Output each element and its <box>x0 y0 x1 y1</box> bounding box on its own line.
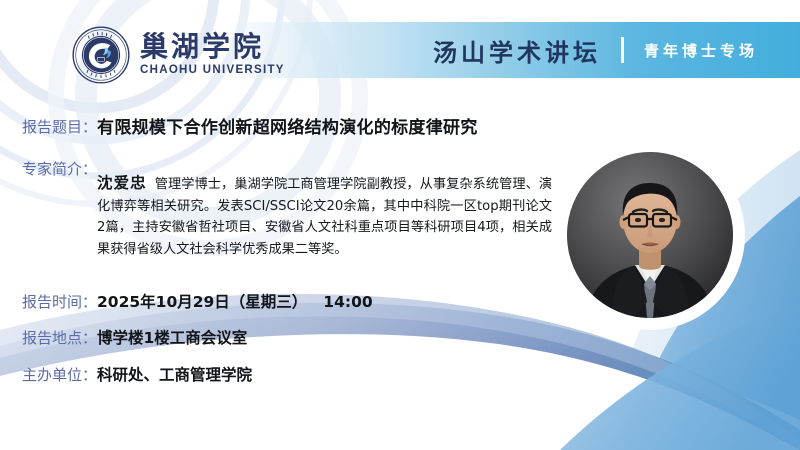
speaker-name: 沈爱忠 <box>97 174 147 192</box>
time-clock: 14:00 <box>323 291 372 314</box>
field-time-row: 报告时间： 2025年10月29日（星期三） 14:00 <box>0 291 800 314</box>
banner-subtitle: 青年博士专场 <box>644 40 758 61</box>
speaker-bio-block: 沈爱忠管理学博士，巢湖学院工商管理学院副教授，从事复杂系统管理、演化博弈等相关研… <box>97 158 552 274</box>
time-date: 2025年10月29日（星期三） <box>97 291 307 314</box>
university-seal-icon <box>72 26 130 84</box>
seminar-poster: 汤山学术讲坛 青年博士专场 <box>0 0 800 450</box>
title-value: 有限规模下合作创新超网络结构演化的标度律研究 <box>97 116 478 142</box>
university-name-en: CHAOHU UNIVERSITY <box>140 65 285 77</box>
organizer-label: 主办单位： <box>22 364 97 387</box>
field-title-row: 报告题目： 有限规模下合作创新超网络结构演化的标度律研究 <box>0 116 800 142</box>
poster-content: 报告题目： 有限规模下合作创新超网络结构演化的标度律研究 专家简介： 沈爱忠管理… <box>0 116 800 400</box>
university-logo: 巢湖学院 CHAOHU UNIVERSITY <box>72 26 285 84</box>
speaker-bio-paragraph: 沈爱忠管理学博士，巢湖学院工商管理学院副教授，从事复杂系统管理、演化博弈等相关研… <box>97 171 552 260</box>
field-speaker-row: 专家简介： 沈爱忠管理学博士，巢湖学院工商管理学院副教授，从事复杂系统管理、演化… <box>0 158 800 274</box>
time-label: 报告时间： <box>22 291 97 314</box>
speaker-label: 专家简介： <box>22 158 97 181</box>
field-organizer-row: 主办单位： 科研处、工商管理学院 <box>0 364 800 387</box>
speaker-bio-text: 管理学博士，巢湖学院工商管理学院副教授，从事复杂系统管理、演化博弈等相关研究。发… <box>97 177 552 257</box>
banner-divider <box>621 37 624 63</box>
field-place-row: 报告地点： 博学楼1楼工商会议室 <box>0 327 800 350</box>
organizer-value: 科研处、工商管理学院 <box>97 364 252 387</box>
place-value: 博学楼1楼工商会议室 <box>97 327 247 350</box>
university-name-cn: 巢湖学院 <box>140 33 285 61</box>
banner-main-title: 汤山学术讲坛 <box>433 33 601 68</box>
place-label: 报告地点： <box>22 327 97 350</box>
title-label: 报告题目： <box>22 116 97 139</box>
banner-strip: 汤山学术讲坛 青年博士专场 <box>225 22 800 78</box>
poster-header: 汤山学术讲坛 青年博士专场 <box>0 22 800 108</box>
